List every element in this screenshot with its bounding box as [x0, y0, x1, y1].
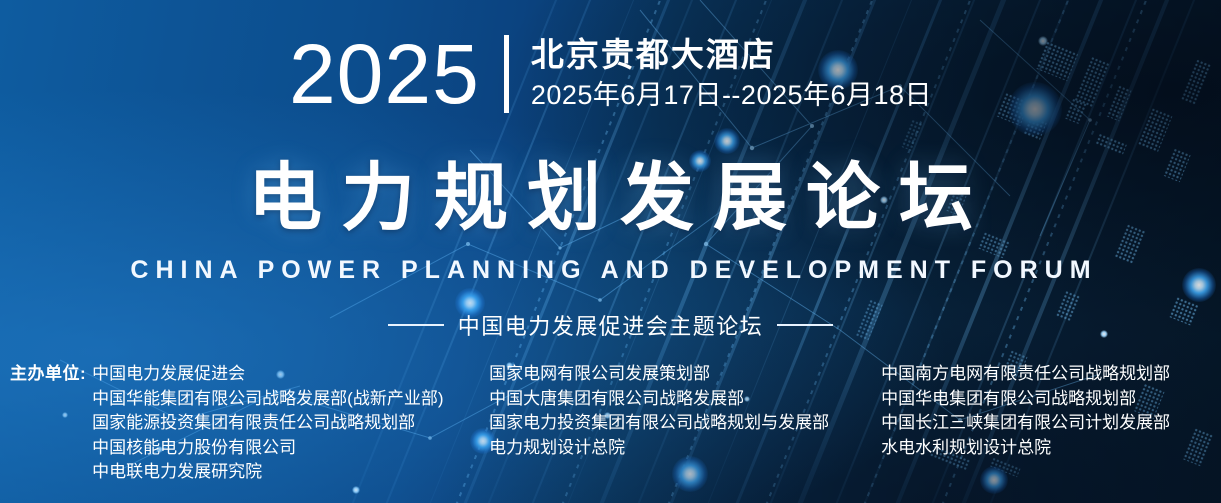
event-year: 2025 [289, 33, 480, 115]
venue-date: 2025年6月17日--2025年6月18日 [531, 79, 932, 113]
rule-left [388, 324, 444, 326]
header-row: 2025 北京贵都大酒店 2025年6月17日--2025年6月18日 [0, 33, 1221, 115]
list-item: 中国电力发展促进会 [92, 362, 489, 387]
list-item: 国家电力投资集团有限公司战略规划与发展部 [489, 411, 881, 436]
list-item: 国家电网有限公司发展策划部 [489, 362, 881, 387]
list-item: 中国华电集团有限公司战略规划部 [881, 387, 1170, 412]
list-item: 中国大唐集团有限公司战略发展部 [489, 387, 881, 412]
tagline: 中国电力发展促进会主题论坛 [458, 309, 764, 341]
organizers-column-3: 中国南方电网有限责任公司战略规划部 中国华电集团有限公司战略规划部 中国长江三峡… [881, 362, 1170, 460]
organizers-column-1: 中国电力发展促进会 中国华能集团有限公司战略发展部(战新产业部) 国家能源投资集… [92, 362, 489, 485]
list-item: 水电水利规划设计总院 [881, 436, 1170, 461]
list-item: 中国南方电网有限责任公司战略规划部 [881, 362, 1170, 387]
venue-block: 北京贵都大酒店 2025年6月17日--2025年6月18日 [531, 36, 932, 113]
list-item: 中电联电力发展研究院 [92, 460, 489, 485]
header-divider [504, 35, 509, 113]
banner-content: 2025 北京贵都大酒店 2025年6月17日--2025年6月18日 电力规划… [0, 0, 1221, 503]
list-item: 中国华能集团有限公司战略发展部(战新产业部) [92, 387, 489, 412]
list-item: 国家能源投资集团有限责任公司战略规划部 [92, 411, 489, 436]
rule-right [777, 324, 833, 326]
tagline-row: 中国电力发展促进会主题论坛 [0, 309, 1221, 341]
venue-name: 北京贵都大酒店 [531, 36, 932, 75]
conference-banner: 2025 北京贵都大酒店 2025年6月17日--2025年6月18日 电力规划… [0, 0, 1221, 503]
organizers-section: 主办单位: 中国电力发展促进会 中国华能集团有限公司战略发展部(战新产业部) 国… [10, 362, 1221, 485]
page-subtitle-english: CHINA POWER PLANNING AND DEVELOPMENT FOR… [0, 256, 1221, 285]
organizers-label: 主办单位: [10, 362, 92, 387]
list-item: 电力规划设计总院 [489, 436, 881, 461]
list-item: 中国核能电力股份有限公司 [92, 436, 489, 461]
list-item: 中国长江三峡集团有限公司计划发展部 [881, 411, 1170, 436]
organizers-column-2: 国家电网有限公司发展策划部 中国大唐集团有限公司战略发展部 国家电力投资集团有限… [489, 362, 881, 460]
page-title: 电力规划发展论坛 [0, 158, 1221, 238]
